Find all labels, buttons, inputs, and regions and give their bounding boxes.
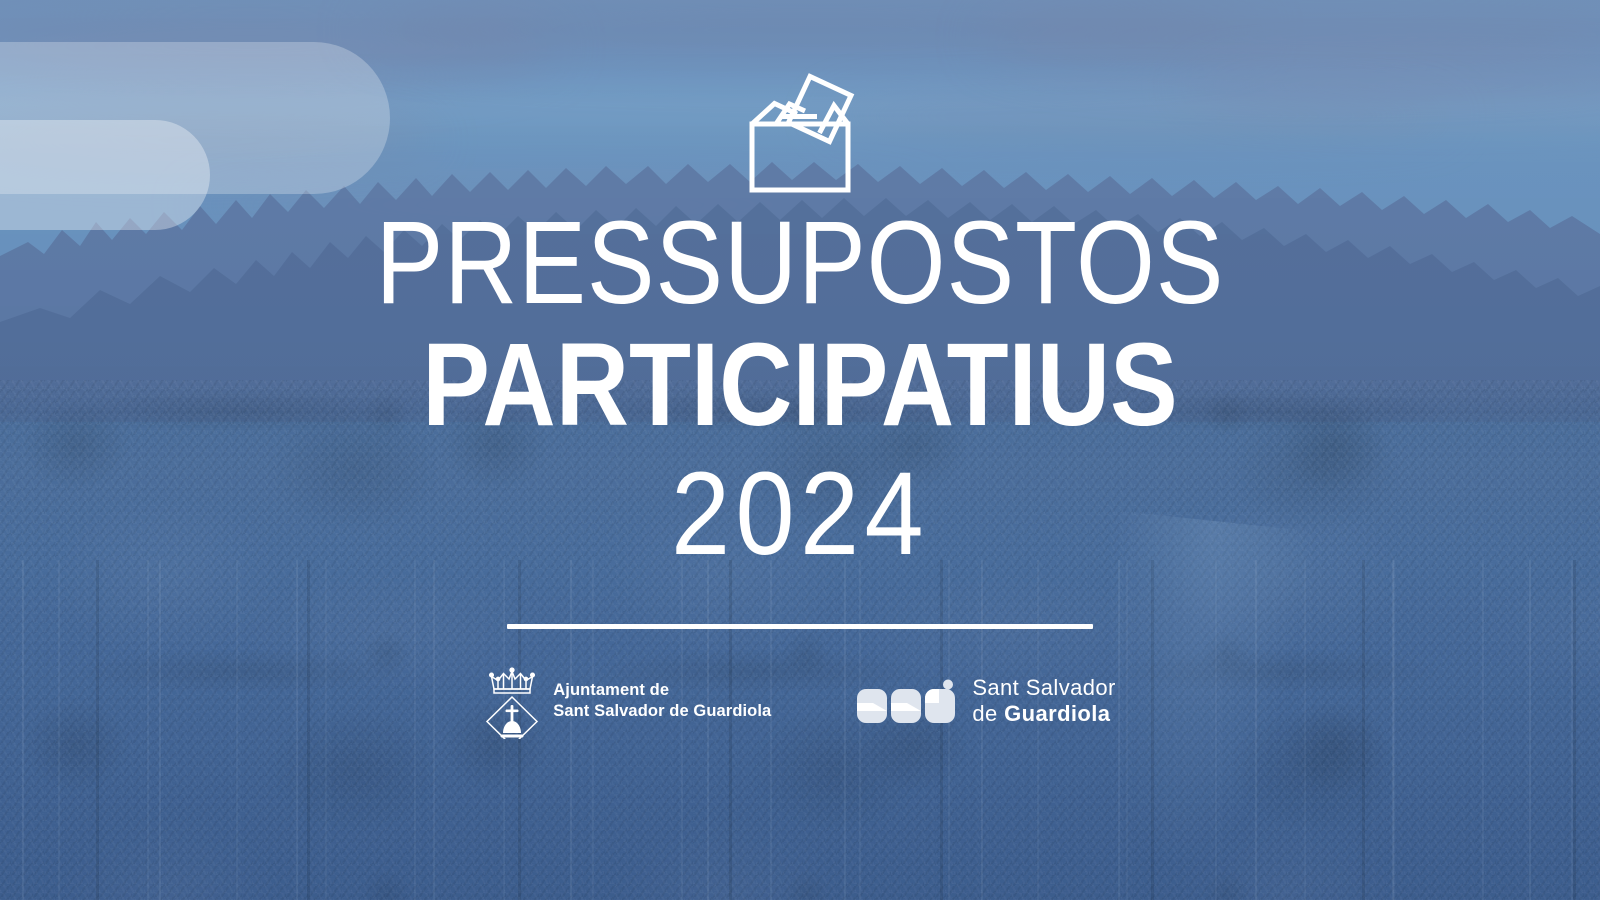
ballot-box-icon	[741, 62, 859, 194]
poster-content: PRESSUPOSTOS PARTICIPATIUS 2024	[0, 0, 1600, 900]
poster-canvas: PRESSUPOSTOS PARTICIPATIUS 2024	[0, 0, 1600, 900]
ssg-wordmark: Sant Salvador de Guardiola	[972, 675, 1115, 726]
crown-and-shield-crest-icon	[484, 663, 540, 739]
ssg-line-2: de Guardiola	[972, 701, 1115, 727]
ajuntament-line-1: Ajuntament de	[553, 680, 771, 701]
ajuntament-line-2: Sant Salvador de Guardiola	[553, 701, 771, 722]
divider-rule	[507, 624, 1093, 629]
ssg-logo: Sant Salvador de Guardiola	[857, 675, 1115, 726]
title-block: PRESSUPOSTOS PARTICIPATIUS 2024	[0, 204, 1600, 578]
title-line-1: PRESSUPOSTOS	[112, 204, 1488, 322]
logo-row: Ajuntament de Sant Salvador de Guardiola	[484, 663, 1115, 739]
ssg-monogram-icon	[857, 679, 959, 723]
ssg-line-2-bold: Guardiola	[1004, 701, 1110, 726]
ssg-line-2-prefix: de	[972, 701, 1004, 726]
ajuntament-wordmark: Ajuntament de Sant Salvador de Guardiola	[553, 680, 771, 722]
title-line-2: PARTICIPATIUS	[112, 324, 1488, 447]
ajuntament-logo: Ajuntament de Sant Salvador de Guardiola	[484, 663, 771, 739]
title-year: 2024	[80, 451, 1520, 578]
ssg-line-1: Sant Salvador	[972, 675, 1115, 701]
